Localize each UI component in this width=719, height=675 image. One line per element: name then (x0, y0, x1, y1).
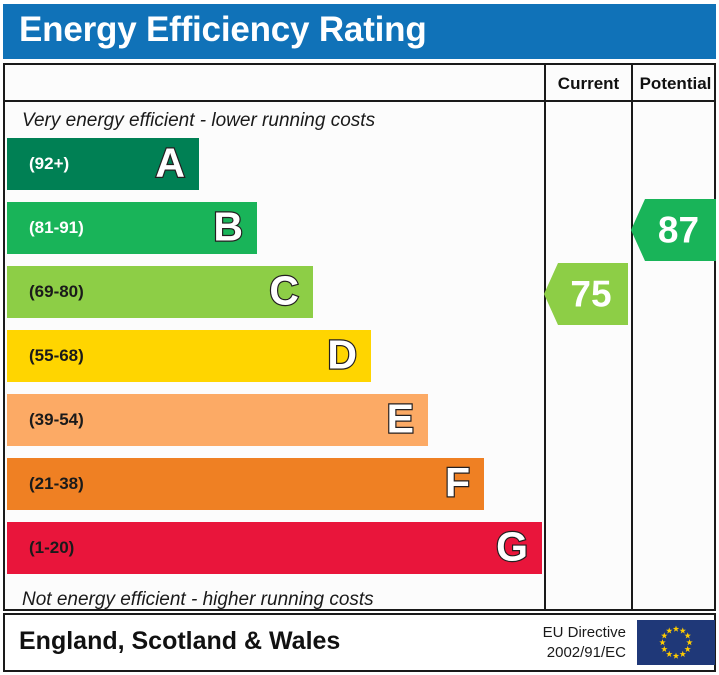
band-e-letter: E (387, 399, 414, 440)
current-rating-arrow: 75 (544, 263, 628, 325)
band-d: (55-68) D (7, 330, 371, 382)
band-f: (21-38) F (7, 458, 484, 510)
band-b: (81-91) B (7, 202, 257, 254)
potential-rating-value: 87 (645, 212, 712, 249)
band-a-range: (92+) (29, 154, 69, 174)
page-title: Energy Efficiency Rating (19, 10, 427, 50)
band-b-range: (81-91) (29, 218, 84, 238)
footer-directive-line2: 2002/91/EC (521, 643, 626, 663)
band-d-range: (55-68) (29, 346, 84, 366)
band-c-letter: C (269, 271, 299, 312)
potential-rating-arrow: 87 (631, 199, 716, 261)
band-a: (92+) A (7, 138, 199, 190)
column-header-current: Current (546, 73, 631, 95)
band-f-range: (21-38) (29, 474, 84, 494)
footer-directive: EU Directive 2002/91/EC (521, 623, 626, 663)
current-column-divider (544, 65, 546, 609)
band-f-letter: F (445, 463, 470, 504)
band-e: (39-54) E (7, 394, 428, 446)
band-e-range: (39-54) (29, 410, 84, 430)
potential-column-divider (631, 65, 633, 609)
footer-region-label: England, Scotland & Wales (19, 627, 340, 656)
band-c: (69-80) C (7, 266, 313, 318)
caption-inefficient: Not energy efficient - higher running co… (22, 589, 374, 611)
eu-flag-icon (637, 620, 715, 665)
current-rating-value: 75 (558, 276, 624, 313)
rating-table: Current Potential Very energy efficient … (3, 63, 716, 611)
header-divider (5, 100, 714, 102)
footer-directive-line1: EU Directive (521, 623, 626, 643)
title-bar: Energy Efficiency Rating (3, 4, 716, 59)
band-b-letter: B (213, 207, 243, 248)
footer: England, Scotland & Wales EU Directive 2… (3, 613, 716, 672)
band-g-range: (1-20) (29, 538, 74, 558)
energy-efficiency-rating-certificate: Energy Efficiency Rating Current Potenti… (0, 0, 719, 675)
band-g: (1-20) G (7, 522, 542, 574)
band-d-letter: D (327, 335, 357, 376)
caption-efficient: Very energy efficient - lower running co… (22, 110, 375, 132)
column-header-potential: Potential (633, 73, 718, 95)
band-a-letter: A (155, 143, 185, 184)
band-g-letter: G (496, 527, 528, 568)
band-c-range: (69-80) (29, 282, 84, 302)
